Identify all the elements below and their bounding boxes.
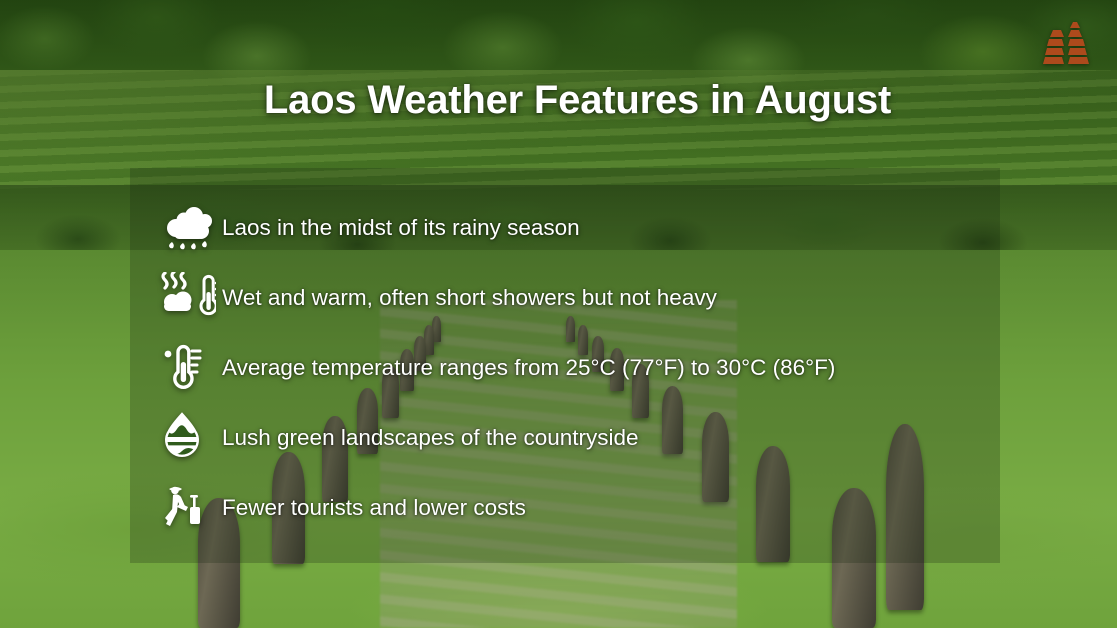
mountain-landscape-icon — [160, 411, 222, 463]
slide-canvas: Laos Weather Features in August — [0, 0, 1117, 628]
thermometer-icon — [160, 341, 222, 393]
list-item: Average temperature ranges from 25°C (77… — [160, 332, 990, 402]
list-item-label: Wet and warm, often short showers but no… — [222, 284, 717, 311]
feature-list: Laos in the midst of its rainy season — [160, 192, 990, 542]
list-item: Wet and warm, often short showers but no… — [160, 262, 990, 332]
list-item-label: Average temperature ranges from 25°C (77… — [222, 354, 835, 381]
list-item-label: Laos in the midst of its rainy season — [222, 214, 580, 241]
list-item-label: Lush green landscapes of the countryside — [222, 424, 639, 451]
laos-temple-logo — [1037, 20, 1095, 70]
list-item: Laos in the midst of its rainy season — [160, 192, 990, 262]
list-item: Lush green landscapes of the countryside — [160, 402, 990, 472]
list-item-label: Fewer tourists and lower costs — [222, 494, 526, 521]
slide-title: Laos Weather Features in August — [0, 78, 1117, 123]
list-item: Fewer tourists and lower costs — [160, 472, 990, 542]
rain-cloud-icon — [160, 201, 222, 253]
traveler-with-luggage-icon — [160, 481, 222, 533]
humid-warm-thermometer-icon — [160, 271, 222, 323]
